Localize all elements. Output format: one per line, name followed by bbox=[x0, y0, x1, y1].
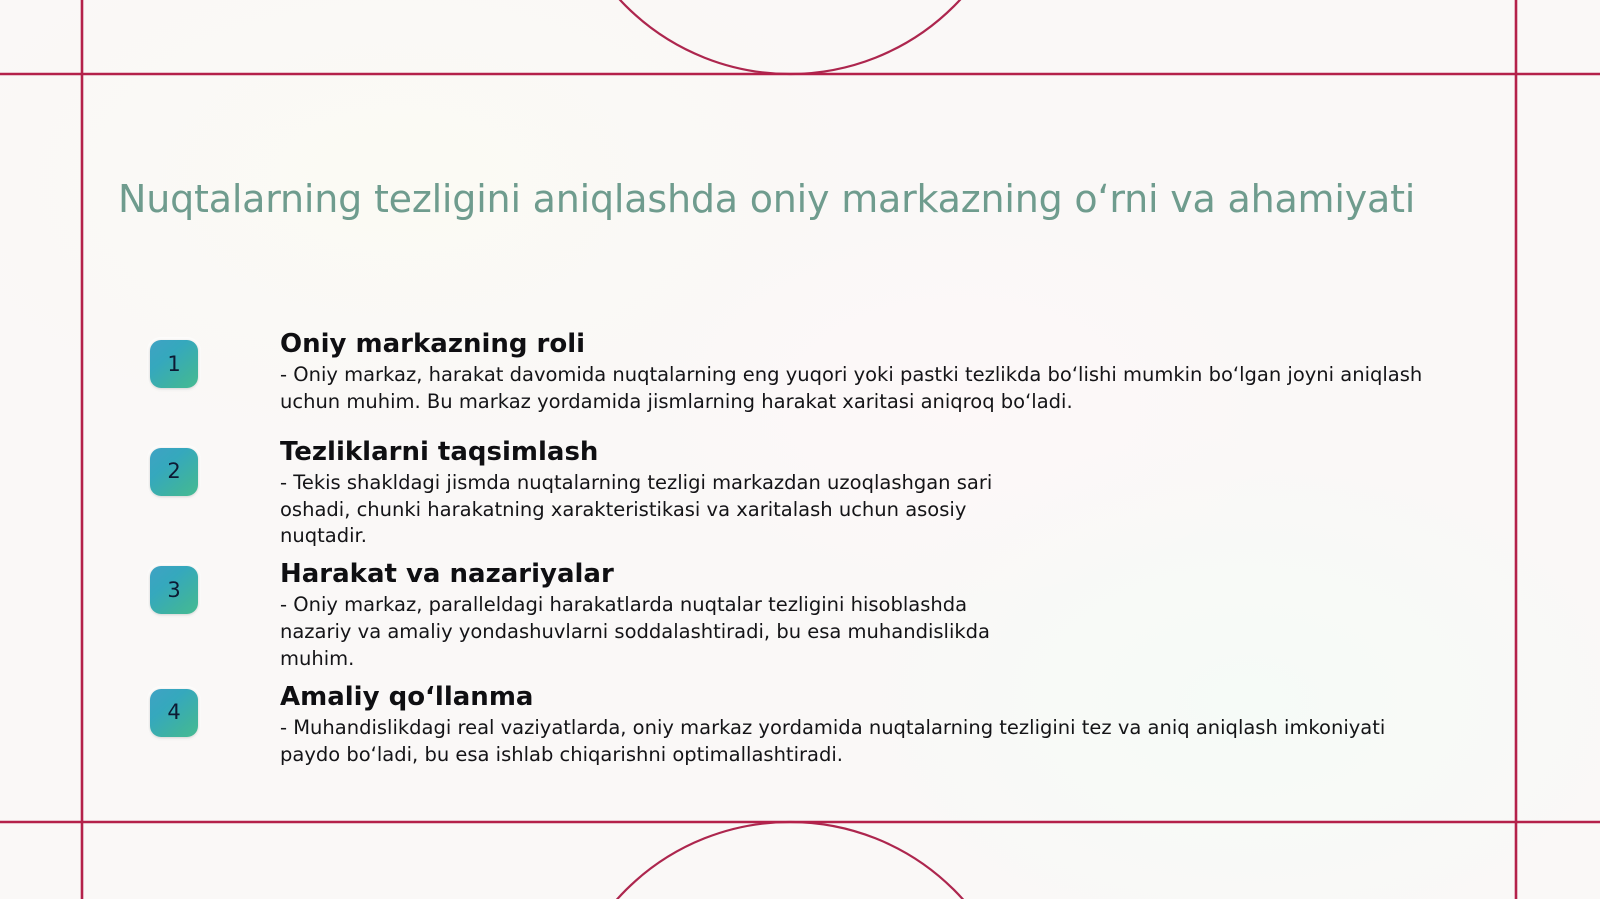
list-item: 3 Harakat va nazariyalar - Oniy markaz, … bbox=[150, 560, 1430, 673]
item-number-badge: 3 bbox=[150, 566, 198, 614]
list-item-heading: Tezliklarni taqsimlash bbox=[280, 438, 1430, 468]
list-item-body: - Oniy markaz, harakat davomida nuqtalar… bbox=[280, 362, 1430, 416]
list-item-body: - Oniy markaz, paralleldagi harakatlarda… bbox=[280, 592, 1430, 673]
list-item-body: - Muhandislikdagi real vaziyatlarda, oni… bbox=[280, 715, 1430, 769]
item-number-badge: 4 bbox=[150, 689, 198, 737]
numbered-list: 1 Oniy markazning roli - Oniy markaz, ha… bbox=[150, 330, 1430, 779]
item-number-badge: 1 bbox=[150, 340, 198, 388]
list-item: 4 Amaliy qo‘llanma - Muhandislikdagi rea… bbox=[150, 683, 1430, 769]
page-title: Nuqtalarning tezligini aniqlashda oniy m… bbox=[118, 177, 1418, 221]
top-arc-decoration bbox=[558, 0, 1022, 74]
list-item-heading: Amaliy qo‘llanma bbox=[280, 683, 1430, 713]
list-item-heading: Oniy markazning roli bbox=[280, 330, 1430, 360]
list-item-heading: Harakat va nazariyalar bbox=[280, 560, 1430, 590]
list-item: 2 Tezliklarni taqsimlash - Tekis shaklda… bbox=[150, 438, 1430, 551]
bottom-arc-decoration bbox=[558, 822, 1022, 899]
list-item: 1 Oniy markazning roli - Oniy markaz, ha… bbox=[150, 330, 1430, 416]
list-item-body: - Tekis shakldagi jismda nuqtalarning te… bbox=[280, 470, 1430, 551]
slide-canvas: Nuqtalarning tezligini aniqlashda oniy m… bbox=[0, 0, 1600, 899]
item-number-badge: 2 bbox=[150, 448, 198, 496]
